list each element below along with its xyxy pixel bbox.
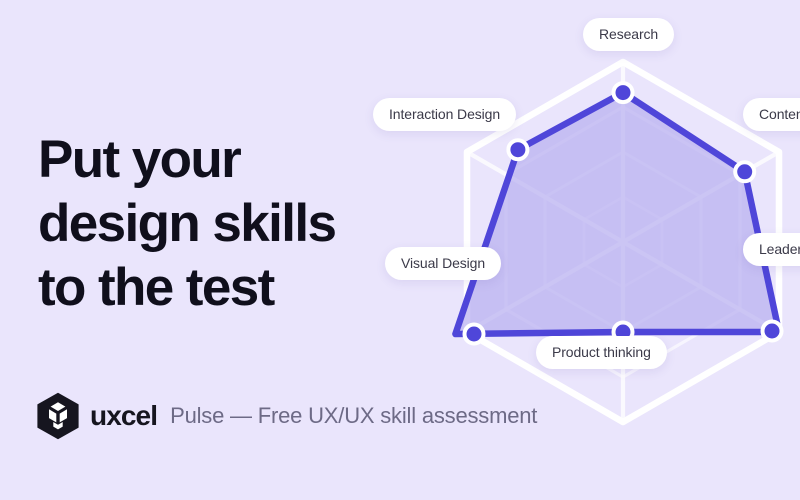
radar-label-product-thinking[interactable]: Product thinking bbox=[536, 336, 667, 369]
radar-label-visual-design[interactable]: Visual Design bbox=[385, 247, 501, 280]
radar-point-interaction-design[interactable] bbox=[508, 140, 527, 159]
radar-point-leadership[interactable] bbox=[763, 322, 782, 341]
radar-point-research[interactable] bbox=[614, 83, 633, 102]
radar-point-content[interactable] bbox=[735, 162, 754, 181]
radar-label-content[interactable]: Content bbox=[743, 98, 800, 131]
uxcel-logo-icon[interactable] bbox=[36, 392, 80, 440]
page-title: Put your design skills to the test bbox=[38, 128, 468, 320]
radar-point-visual-design[interactable] bbox=[465, 325, 484, 344]
brand-name: uxcel bbox=[90, 402, 157, 430]
radar-label-leadership[interactable]: Leadership bbox=[743, 233, 800, 266]
footer-tagline: Pulse — Free UX/UX skill assessment bbox=[170, 405, 537, 427]
radar-label-research[interactable]: Research bbox=[583, 18, 674, 51]
poster-canvas: Put your design skills to the test bbox=[0, 0, 800, 500]
footer-bar: uxcel Pulse — Free UX/UX skill assessmen… bbox=[36, 392, 537, 440]
radar-label-interaction-design[interactable]: Interaction Design bbox=[373, 98, 516, 131]
